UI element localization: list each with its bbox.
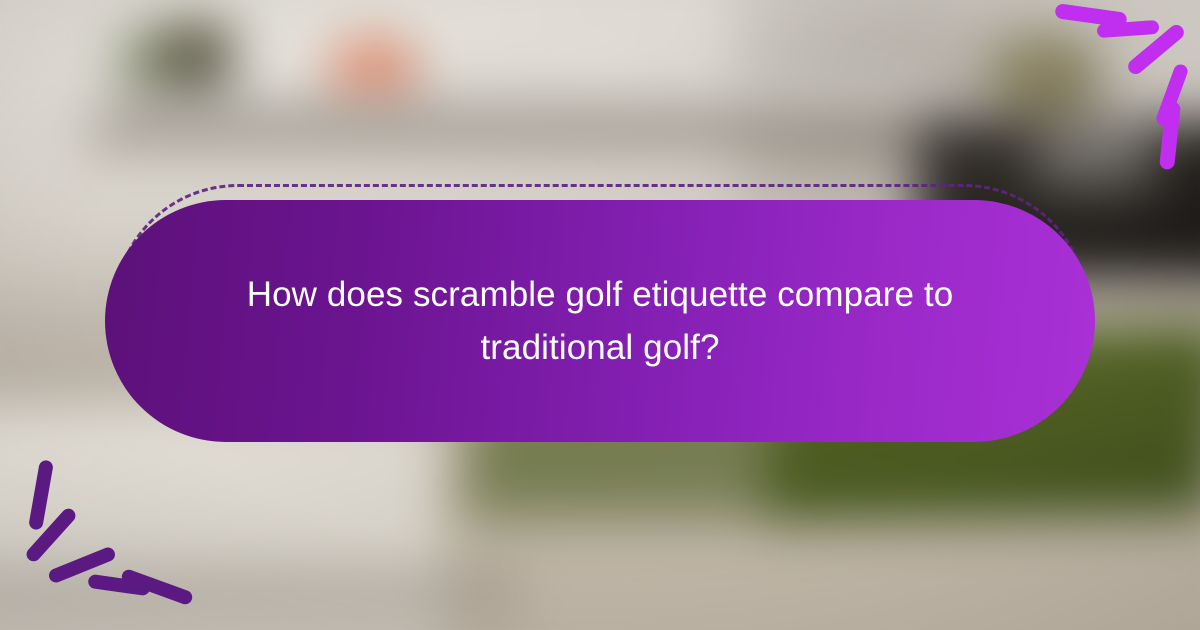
question-card-body: How does scramble golf etiquette compare… xyxy=(105,200,1095,442)
question-card[interactable]: How does scramble golf etiquette compare… xyxy=(105,184,1095,442)
poster-canvas: How does scramble golf etiquette compare… xyxy=(0,0,1200,630)
question-text: How does scramble golf etiquette compare… xyxy=(160,268,1040,374)
shelf-object-plant xyxy=(989,34,1101,117)
background-shelf-shadow xyxy=(85,120,956,169)
background-sofa-shadow xyxy=(0,570,521,630)
background-shelf xyxy=(112,86,930,121)
